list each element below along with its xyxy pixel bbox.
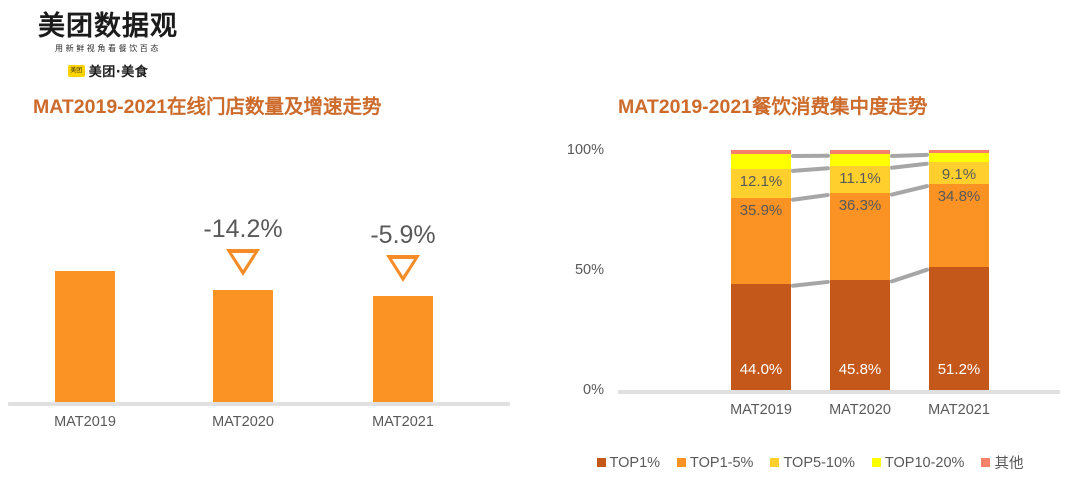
left-chart-title: MAT2019-2021在线门店数量及增速走势 — [33, 90, 382, 119]
stacked-bar-mat2019: 12.1%35.9%44.0% — [731, 150, 791, 390]
segment-top5-10-mat2020: 11.1% — [830, 166, 890, 193]
left-x-label-mat2021: MAT2021 — [343, 414, 463, 430]
legend-label: TOP5-10% — [783, 455, 854, 471]
segment-label-top1-mat2019: 44.0% — [731, 361, 791, 378]
segment-top10-20-mat2020 — [830, 154, 890, 166]
consumption-concentration-stacked-chart: 100%50%0% 12.1%35.9%44.0%MAT201911.1%36.… — [560, 140, 1060, 480]
segment-label-top1-mat2021: 51.2% — [929, 361, 989, 378]
bar-mat2021 — [373, 296, 433, 402]
growth-rate-label-mat2020: -14.2% — [168, 215, 318, 244]
segment-label-top1-5-mat2020: 36.3% — [830, 197, 890, 214]
legend-label: TOP1-5% — [690, 455, 753, 471]
segment-top10-20-mat2021 — [929, 153, 989, 162]
segment-top5-10-mat2019: 12.1% — [731, 169, 791, 198]
logo-wordmark: 美团数据观 — [33, 12, 183, 42]
online-store-count-bar-chart: MAT2019MAT2020MAT2021-14.2%-5.9% — [0, 140, 520, 440]
segment-top1-5-mat2021: 34.8% — [929, 184, 989, 268]
legend-item-其他[interactable]: 其他 — [981, 452, 1023, 473]
segment-top1-mat2020: 45.8% — [830, 280, 890, 390]
segment-top1-mat2021: 51.2% — [929, 267, 989, 390]
segment-label-top1-5-mat2019: 35.9% — [731, 202, 791, 219]
connector-band-3-1 — [890, 153, 929, 158]
stacked-bar-mat2020: 11.1%36.3%45.8% — [830, 150, 890, 390]
y-tick-50pct: 50% — [575, 262, 604, 278]
legend-item-top1-5[interactable]: TOP1-5% — [677, 455, 753, 471]
left-x-label-mat2019: MAT2019 — [25, 414, 145, 430]
legend-swatch-icon — [770, 458, 779, 467]
right-chart-y-axis: 100%50%0% — [560, 140, 612, 480]
right-chart-legend: TOP1%TOP1-5%TOP5-10%TOP10-20%其他 — [560, 452, 1060, 473]
connector-band-0-0 — [791, 280, 830, 288]
left-x-label-mat2020: MAT2020 — [183, 414, 303, 430]
connector-band-2-1 — [890, 162, 929, 171]
segment-top1-mat2019: 44.0% — [731, 284, 791, 390]
connector-band-0-1 — [889, 267, 929, 284]
y-tick-100pct: 100% — [567, 142, 604, 158]
right-chart-title: MAT2019-2021餐饮消费集中度走势 — [618, 90, 928, 119]
growth-rate-label-mat2021: -5.9% — [328, 221, 478, 250]
legend-label: TOP10-20% — [885, 455, 965, 471]
right-x-label-mat2021: MAT2021 — [899, 402, 1019, 418]
right-chart-baseline — [618, 390, 1060, 394]
bar-mat2019 — [55, 271, 115, 402]
decrease-triangle-inner-mat2020 — [232, 253, 254, 270]
segment-top1-5-mat2019: 35.9% — [731, 198, 791, 284]
legend-swatch-icon — [981, 458, 990, 467]
legend-item-top1[interactable]: TOP1% — [597, 455, 661, 471]
legend-swatch-icon — [872, 458, 881, 467]
segment-top10-20-mat2019 — [731, 154, 791, 169]
segment-label-top1-mat2020: 45.8% — [830, 361, 890, 378]
segment-label-top1-5-mat2021: 34.8% — [929, 188, 989, 205]
segment-label-top5-10-mat2019: 12.1% — [731, 173, 791, 190]
connector-band-3-0 — [791, 154, 830, 158]
legend-item-top5-10[interactable]: TOP5-10% — [770, 455, 854, 471]
legend-swatch-icon — [597, 458, 606, 467]
connector-band-2-0 — [791, 166, 830, 173]
segment-label-top5-10-mat2020: 11.1% — [830, 170, 890, 187]
stacked-bar-mat2021: 9.1%34.8%51.2% — [929, 150, 989, 390]
logo-badge: 美团 美团·美食 — [33, 61, 183, 80]
brand-logo: 美团数据观 用新鲜视角看餐饮百态 美团 美团·美食 — [33, 12, 183, 80]
legend-label: 其他 — [994, 452, 1023, 473]
left-chart-baseline — [8, 402, 510, 406]
legend-label: TOP1% — [610, 455, 661, 471]
logo-badge-label: 美团·美食 — [89, 61, 148, 80]
legend-swatch-icon — [677, 458, 686, 467]
bar-mat2020 — [213, 290, 273, 402]
segment-label-top5-10-mat2021: 9.1% — [929, 166, 989, 183]
connector-band-1-1 — [890, 184, 930, 197]
connector-band-1-0 — [791, 193, 831, 202]
decrease-triangle-inner-mat2021 — [392, 259, 414, 276]
y-tick-0pct: 0% — [583, 382, 604, 398]
legend-item-top10-20[interactable]: TOP10-20% — [872, 455, 965, 471]
logo-tagline: 用新鲜视角看餐饮百态 — [33, 43, 183, 55]
meituan-mark-icon: 美团 — [68, 65, 85, 77]
segment-top5-10-mat2021: 9.1% — [929, 162, 989, 184]
segment-top1-5-mat2020: 36.3% — [830, 193, 890, 280]
